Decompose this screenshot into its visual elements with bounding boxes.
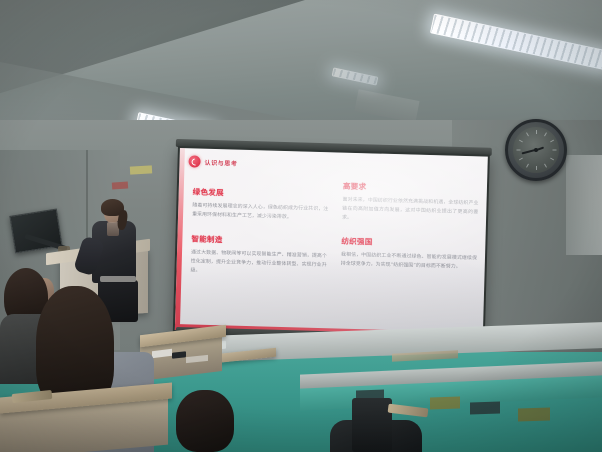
- block-heading: 纺织强国: [341, 236, 477, 251]
- slide-accent-bar-left: [175, 148, 185, 330]
- wall-clock: [505, 119, 567, 181]
- block-body: 面对未来，中国纺织行业依然充满挑战和机遇，全球纺织产业链在向高附加值方向发展，这…: [342, 196, 479, 227]
- floor-tile: [430, 396, 460, 409]
- slide-content-grid: 绿色发展 随着可持续发展理念的深入人心，绿色纺织成为行业共识，注重采用环保材料和…: [185, 176, 479, 283]
- presenter-shirt-hem: [100, 276, 136, 282]
- block-heading: 高要求: [343, 181, 479, 196]
- slide-header: 认识与思考: [188, 155, 479, 175]
- right-doorway: [566, 155, 602, 255]
- block-body: 随着可持续发展理念的深入人心，绿色纺织成为行业共识，注重采用环保材料和生产工艺，…: [192, 201, 328, 223]
- comma-quote-icon: [188, 155, 200, 167]
- block-body: 通过大数据、物联网等可以实现智能生产、精准营销，提高个性化定制，提升企业竞争力，…: [190, 249, 327, 280]
- wall-sign-red: [112, 181, 128, 189]
- slide-block-green-development: 绿色发展 随着可持续发展理念的深入人心，绿色纺织成为行业共识，注重采用环保材料和…: [192, 186, 329, 223]
- floor-tile: [470, 401, 500, 414]
- wall-sign-yellow: [130, 165, 152, 174]
- classroom-photo: 认识与思考 绿色发展 随着可持续发展理念的深入人心，绿色纺织成为行业共识，注重采…: [0, 0, 602, 452]
- block-heading: 绿色发展: [193, 186, 329, 201]
- presentation-slide: 认识与思考 绿色发展 随着可持续发展理念的深入人心，绿色纺织成为行业共识，注重采…: [175, 148, 488, 339]
- floor-tile: [518, 407, 550, 421]
- block-body: 我相信，中国纺织工业不断通过绿色、智能的发展模式继续保持全球竞争力，为实现“纺织…: [341, 251, 477, 273]
- slide-block-high-requirements: 高要求 面对未来，中国纺织行业依然充满挑战和机遇，全球纺织产业链在向高附加值方向…: [342, 181, 479, 228]
- slide-block-smart-manufacturing: 智能制造 通过大数据、物联网等可以实现智能生产、精准营销，提高个性化定制，提升企…: [190, 234, 327, 280]
- slide-title: 认识与思考: [204, 157, 237, 167]
- projection-screen: 认识与思考 绿色发展 随着可持续发展理念的深入人心，绿色纺织成为行业共识，注重采…: [173, 146, 490, 341]
- student-mid-left: [176, 390, 234, 452]
- block-heading: 智能制造: [191, 234, 327, 249]
- classroom-chair: [352, 398, 392, 452]
- slide-block-textile-power: 纺织强国 我相信，中国纺织工业不断通过绿色、智能的发展模式继续保持全球竞争力，为…: [340, 236, 477, 284]
- clock-face: [513, 127, 559, 173]
